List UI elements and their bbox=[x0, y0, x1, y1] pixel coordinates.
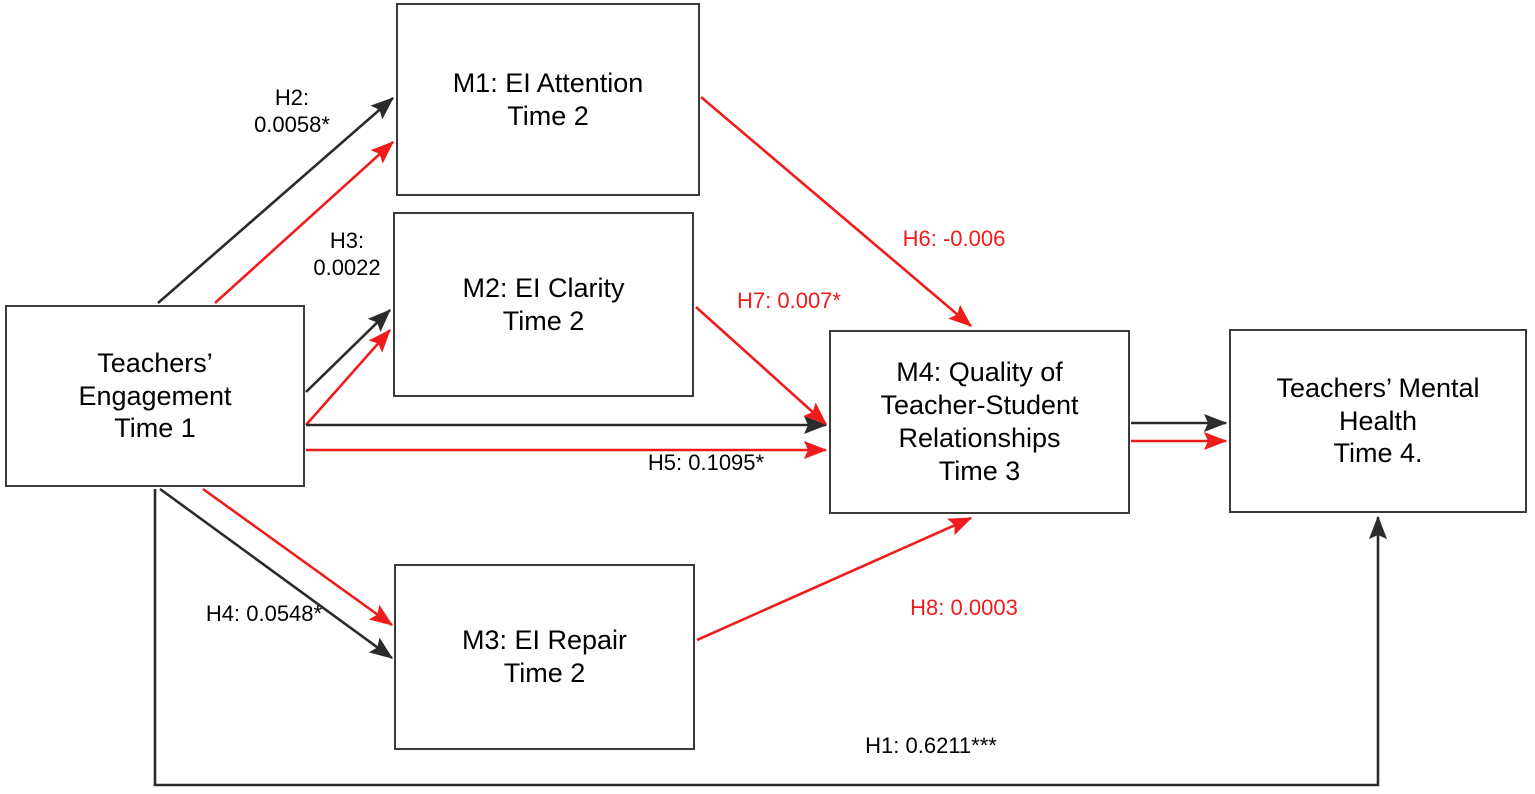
path-engagement-to-m2-red bbox=[306, 330, 390, 425]
node-teachers-engagement-label: Teachers’ Engagement Time 1 bbox=[72, 347, 237, 446]
node-m3-ei-repair-label: M3: EI Repair Time 2 bbox=[456, 624, 633, 690]
node-teachers-mental-health[interactable]: Teachers’ Mental Health Time 4. bbox=[1229, 329, 1527, 513]
node-teachers-engagement[interactable]: Teachers’ Engagement Time 1 bbox=[5, 305, 305, 487]
node-m1-ei-attention-label: M1: EI Attention Time 2 bbox=[447, 67, 650, 133]
edge-label-h5: H5: 0.1095* bbox=[621, 450, 791, 477]
edge-label-h8: H8: 0.0003 bbox=[884, 595, 1044, 622]
path-engagement-to-mental-health-black bbox=[155, 489, 1378, 785]
node-m2-ei-clarity[interactable]: M2: EI Clarity Time 2 bbox=[393, 212, 694, 397]
node-m1-ei-attention[interactable]: M1: EI Attention Time 2 bbox=[396, 3, 700, 196]
path-engagement-to-m3-black bbox=[160, 489, 392, 658]
node-m4-quality-label: M4: Quality of Teacher-Student Relations… bbox=[874, 356, 1084, 488]
node-m3-ei-repair[interactable]: M3: EI Repair Time 2 bbox=[394, 564, 695, 750]
mediation-model-diagram: Teachers’ Engagement Time 1 M1: EI Atten… bbox=[0, 0, 1535, 794]
edge-label-h1: H1: 0.6211*** bbox=[831, 733, 1031, 760]
edge-label-h7: H7: 0.007* bbox=[714, 288, 864, 315]
node-m4-quality-teacher-student-relationships[interactable]: M4: Quality of Teacher-Student Relations… bbox=[829, 330, 1130, 514]
edge-label-h6: H6: -0.006 bbox=[879, 226, 1029, 253]
path-engagement-to-m2-black bbox=[306, 310, 390, 392]
node-m2-ei-clarity-label: M2: EI Clarity Time 2 bbox=[456, 272, 630, 338]
edge-label-h4: H4: 0.0548* bbox=[179, 601, 349, 628]
edge-label-h2: H2: 0.0058* bbox=[212, 85, 372, 139]
edge-label-h3: H3: 0.0022 bbox=[272, 228, 422, 282]
path-m2-to-m4-red bbox=[696, 307, 826, 424]
node-teachers-mental-health-label: Teachers’ Mental Health Time 4. bbox=[1270, 372, 1485, 471]
